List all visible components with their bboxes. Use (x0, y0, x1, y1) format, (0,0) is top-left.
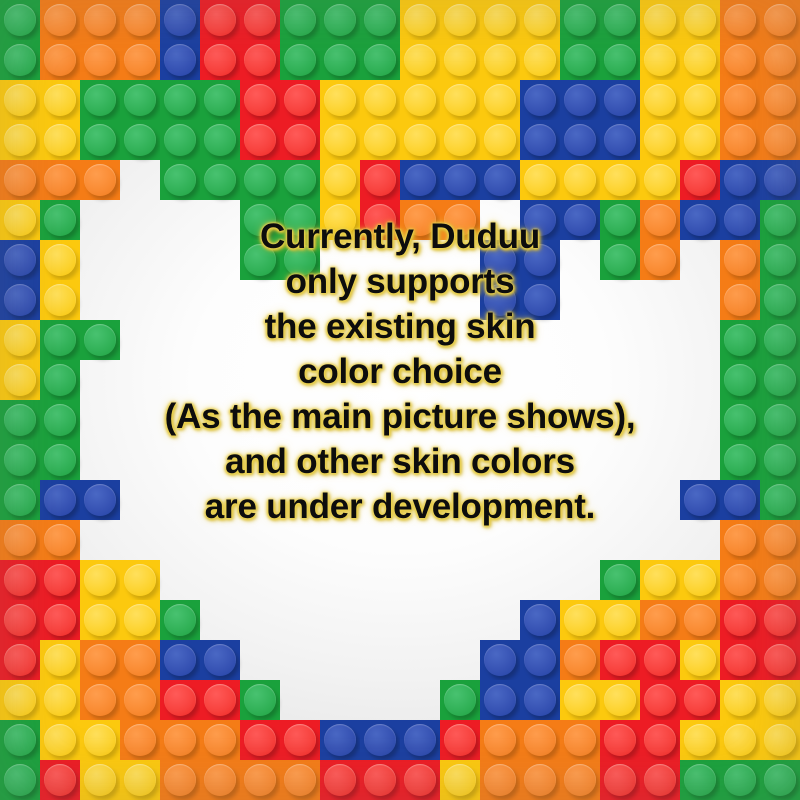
lego-stud-yellow (680, 80, 720, 120)
lego-stud-yellow (40, 280, 80, 320)
lego-stud-red (40, 760, 80, 800)
stud-icon (44, 204, 76, 236)
lego-stud-green (760, 440, 800, 480)
lego-stud-yellow (0, 200, 40, 240)
stud-icon (644, 124, 676, 156)
lego-stud-red (640, 760, 680, 800)
stud-icon (724, 44, 756, 76)
lego-stud-yellow (680, 640, 720, 680)
lego-stud-green (760, 760, 800, 800)
lego-stud-red (280, 80, 320, 120)
stud-icon (124, 644, 156, 676)
stud-icon (684, 564, 716, 596)
stud-icon (324, 44, 356, 76)
lego-stud-yellow (320, 80, 360, 120)
lego-stud-green (160, 600, 200, 640)
lego-stud-red (360, 200, 400, 240)
lego-stud-orange (760, 560, 800, 600)
lego-stud-orange (760, 520, 800, 560)
lego-stud-red (280, 720, 320, 760)
lego-stud-blue (720, 480, 760, 520)
stud-icon (484, 44, 516, 76)
stud-icon (484, 84, 516, 116)
stud-icon (404, 724, 436, 756)
lego-stud-red (240, 40, 280, 80)
lego-stud-orange (440, 200, 480, 240)
lego-stud-orange (720, 560, 760, 600)
stud-icon (404, 764, 436, 796)
stud-icon (124, 604, 156, 636)
stud-icon (524, 244, 556, 276)
lego-stud-green (200, 120, 240, 160)
lego-stud-yellow (560, 680, 600, 720)
lego-stud-yellow (760, 680, 800, 720)
stud-icon (164, 84, 196, 116)
stud-icon (364, 764, 396, 796)
lego-stud-blue (160, 0, 200, 40)
stud-icon (84, 84, 116, 116)
lego-stud-orange (760, 0, 800, 40)
stud-icon (724, 444, 756, 476)
lego-stud-green (600, 40, 640, 80)
stud-icon (564, 124, 596, 156)
lego-stud-blue (560, 200, 600, 240)
stud-icon (644, 564, 676, 596)
stud-icon (644, 164, 676, 196)
lego-stud-green (360, 40, 400, 80)
stud-icon (564, 644, 596, 676)
lego-stud-green (240, 680, 280, 720)
lego-stud-green (120, 120, 160, 160)
lego-stud-yellow (680, 720, 720, 760)
lego-stud-red (600, 760, 640, 800)
lego-stud-orange (40, 520, 80, 560)
lego-stud-yellow (360, 80, 400, 120)
lego-stud-orange (720, 240, 760, 280)
stud-icon (444, 4, 476, 36)
stud-icon (484, 4, 516, 36)
stud-icon (724, 364, 756, 396)
lego-stud-green (760, 400, 800, 440)
lego-stud-yellow (400, 0, 440, 40)
lego-stud-green (600, 200, 640, 240)
stud-icon (164, 4, 196, 36)
stud-icon (84, 44, 116, 76)
lego-stud-blue (520, 200, 560, 240)
stud-icon (644, 684, 676, 716)
stud-icon (724, 644, 756, 676)
lego-stud-green (0, 760, 40, 800)
stud-icon (364, 164, 396, 196)
lego-stud-green (0, 400, 40, 440)
lego-stud-yellow (600, 160, 640, 200)
lego-stud-green (560, 40, 600, 80)
lego-stud-yellow (640, 40, 680, 80)
stud-icon (684, 204, 716, 236)
stud-icon (4, 524, 36, 556)
lego-stud-orange (720, 40, 760, 80)
lego-stud-green (240, 240, 280, 280)
stud-icon (244, 84, 276, 116)
stud-icon (84, 324, 116, 356)
lego-stud-green (40, 200, 80, 240)
stud-icon (524, 644, 556, 676)
stud-icon (564, 84, 596, 116)
lego-stud-green (760, 280, 800, 320)
stud-icon (524, 284, 556, 316)
lego-stud-yellow (320, 120, 360, 160)
lego-stud-yellow (80, 720, 120, 760)
lego-stud-blue (480, 640, 520, 680)
stud-icon (244, 724, 276, 756)
lego-stud-blue (520, 680, 560, 720)
stud-icon (124, 764, 156, 796)
stud-icon (84, 724, 116, 756)
stud-icon (684, 644, 716, 676)
lego-stud-yellow (520, 160, 560, 200)
lego-stud-yellow (40, 720, 80, 760)
stud-icon (164, 724, 196, 756)
lego-stud-yellow (400, 80, 440, 120)
lego-stud-blue (160, 640, 200, 680)
stud-icon (564, 4, 596, 36)
stud-icon (404, 84, 436, 116)
stud-icon (244, 764, 276, 796)
stud-icon (724, 124, 756, 156)
stud-icon (604, 164, 636, 196)
lego-stud-orange (520, 720, 560, 760)
lego-stud-orange (720, 80, 760, 120)
lego-stud-green (760, 480, 800, 520)
lego-stud-blue (320, 720, 360, 760)
lego-stud-blue (0, 240, 40, 280)
lego-stud-red (640, 720, 680, 760)
stud-icon (484, 724, 516, 756)
lego-stud-green (280, 40, 320, 80)
lego-stud-orange (640, 600, 680, 640)
stud-icon (524, 44, 556, 76)
stud-icon (564, 684, 596, 716)
lego-stud-red (240, 720, 280, 760)
lego-stud-blue (600, 120, 640, 160)
lego-stud-green (440, 680, 480, 720)
lego-stud-blue (400, 720, 440, 760)
stud-icon (4, 164, 36, 196)
stud-icon (764, 244, 796, 276)
lego-stud-orange (680, 600, 720, 640)
lego-stud-green (0, 40, 40, 80)
lego-stud-yellow (40, 680, 80, 720)
lego-stud-orange (480, 760, 520, 800)
stud-icon (484, 164, 516, 196)
stud-icon (764, 324, 796, 356)
stud-icon (204, 724, 236, 756)
lego-stud-red (240, 120, 280, 160)
stud-icon (564, 724, 596, 756)
lego-stud-blue (0, 280, 40, 320)
stud-icon (44, 164, 76, 196)
stud-icon (684, 684, 716, 716)
lego-stud-red (320, 760, 360, 800)
lego-stud-red (720, 600, 760, 640)
stud-icon (764, 764, 796, 796)
stud-icon (4, 684, 36, 716)
stud-icon (724, 204, 756, 236)
stud-icon (284, 44, 316, 76)
stud-icon (284, 124, 316, 156)
lego-stud-green (200, 160, 240, 200)
stud-icon (684, 724, 716, 756)
stud-icon (444, 724, 476, 756)
lego-stud-yellow (80, 600, 120, 640)
stud-icon (764, 404, 796, 436)
lego-stud-orange (560, 640, 600, 680)
lego-stud-orange (760, 80, 800, 120)
lego-stud-yellow (480, 120, 520, 160)
stud-icon (484, 244, 516, 276)
lego-stud-yellow (0, 80, 40, 120)
stud-icon (404, 164, 436, 196)
stud-icon (44, 324, 76, 356)
lego-stud-green (760, 320, 800, 360)
lego-stud-blue (520, 80, 560, 120)
stud-icon (84, 484, 116, 516)
stud-icon (644, 644, 676, 676)
lego-stud-yellow (40, 120, 80, 160)
stud-icon (764, 4, 796, 36)
lego-stud-red (40, 560, 80, 600)
lego-stud-yellow (0, 680, 40, 720)
stud-icon (764, 724, 796, 756)
lego-brick-frame (0, 0, 800, 800)
stud-icon (124, 84, 156, 116)
stud-icon (524, 164, 556, 196)
lego-stud-yellow (720, 680, 760, 720)
stud-icon (44, 764, 76, 796)
lego-stud-red (240, 0, 280, 40)
stud-icon (124, 724, 156, 756)
lego-stud-yellow (560, 160, 600, 200)
stud-icon (44, 484, 76, 516)
lego-stud-orange (160, 760, 200, 800)
stud-icon (644, 84, 676, 116)
lego-stud-yellow (120, 760, 160, 800)
lego-stud-yellow (360, 120, 400, 160)
lego-stud-blue (520, 600, 560, 640)
stud-icon (684, 84, 716, 116)
lego-stud-red (680, 680, 720, 720)
lego-stud-yellow (440, 80, 480, 120)
lego-stud-red (680, 160, 720, 200)
lego-stud-green (0, 720, 40, 760)
lego-stud-green (280, 200, 320, 240)
stud-icon (604, 204, 636, 236)
stud-icon (764, 284, 796, 316)
lego-stud-orange (640, 240, 680, 280)
stud-icon (604, 564, 636, 596)
stud-icon (404, 44, 436, 76)
lego-stud-red (600, 640, 640, 680)
lego-stud-green (720, 320, 760, 360)
lego-stud-yellow (640, 80, 680, 120)
stud-icon (244, 244, 276, 276)
stud-icon (764, 564, 796, 596)
lego-stud-green (0, 480, 40, 520)
lego-stud-green (40, 360, 80, 400)
lego-stud-blue (720, 200, 760, 240)
lego-stud-red (760, 640, 800, 680)
stud-icon (44, 4, 76, 36)
lego-stud-green (80, 120, 120, 160)
lego-stud-green (80, 320, 120, 360)
stud-icon (564, 604, 596, 636)
lego-stud-red (240, 80, 280, 120)
stud-icon (724, 244, 756, 276)
lego-stud-green (40, 440, 80, 480)
lego-stud-green (760, 200, 800, 240)
lego-stud-yellow (680, 120, 720, 160)
stud-icon (764, 124, 796, 156)
stud-icon (604, 764, 636, 796)
lego-stud-yellow (480, 40, 520, 80)
lego-stud-blue (560, 120, 600, 160)
lego-stud-red (40, 600, 80, 640)
stud-icon (284, 84, 316, 116)
lego-stud-yellow (640, 0, 680, 40)
lego-stud-blue (520, 120, 560, 160)
lego-stud-orange (80, 160, 120, 200)
lego-stud-orange (520, 760, 560, 800)
stud-icon (724, 484, 756, 516)
stud-icon (164, 764, 196, 796)
lego-stud-green (560, 0, 600, 40)
stud-icon (84, 564, 116, 596)
lego-stud-green (720, 360, 760, 400)
stud-icon (644, 4, 676, 36)
stud-icon (404, 4, 436, 36)
stud-icon (44, 644, 76, 676)
stud-icon (44, 124, 76, 156)
lego-stud-red (760, 600, 800, 640)
lego-stud-green (160, 120, 200, 160)
stud-icon (684, 484, 716, 516)
lego-stud-blue (480, 160, 520, 200)
lego-stud-green (720, 440, 760, 480)
stud-icon (764, 444, 796, 476)
stud-icon (4, 364, 36, 396)
stud-icon (364, 204, 396, 236)
stud-icon (644, 44, 676, 76)
stud-icon (324, 164, 356, 196)
lego-stud-yellow (480, 80, 520, 120)
stud-icon (724, 4, 756, 36)
stud-icon (324, 204, 356, 236)
stud-icon (564, 204, 596, 236)
lego-stud-orange (120, 680, 160, 720)
lego-stud-green (600, 240, 640, 280)
stud-icon (764, 684, 796, 716)
stud-icon (4, 124, 36, 156)
stud-icon (124, 44, 156, 76)
lego-stud-yellow (680, 0, 720, 40)
stud-icon (604, 84, 636, 116)
stud-icon (764, 484, 796, 516)
lego-stud-green (0, 0, 40, 40)
lego-stud-orange (40, 40, 80, 80)
stud-icon (84, 644, 116, 676)
lego-stud-red (640, 640, 680, 680)
stud-icon (524, 204, 556, 236)
stud-icon (84, 164, 116, 196)
lego-stud-red (280, 120, 320, 160)
lego-stud-orange (760, 120, 800, 160)
stud-icon (604, 604, 636, 636)
lego-stud-blue (520, 640, 560, 680)
lego-stud-yellow (680, 40, 720, 80)
stud-icon (724, 284, 756, 316)
stud-icon (324, 724, 356, 756)
stud-icon (4, 564, 36, 596)
stud-icon (44, 84, 76, 116)
lego-stud-yellow (80, 760, 120, 800)
lego-stud-orange (480, 720, 520, 760)
lego-stud-orange (720, 120, 760, 160)
lego-stud-orange (720, 280, 760, 320)
lego-stud-blue (760, 160, 800, 200)
lego-stud-orange (120, 720, 160, 760)
stud-icon (4, 84, 36, 116)
lego-stud-yellow (80, 560, 120, 600)
stud-icon (524, 604, 556, 636)
stud-icon (124, 564, 156, 596)
lego-stud-orange (120, 40, 160, 80)
stud-icon (524, 84, 556, 116)
lego-stud-red (360, 760, 400, 800)
stud-icon (84, 124, 116, 156)
stud-icon (564, 44, 596, 76)
stud-icon (44, 364, 76, 396)
stud-icon (124, 684, 156, 716)
stud-icon (764, 44, 796, 76)
stud-icon (484, 284, 516, 316)
lego-stud-green (360, 0, 400, 40)
stud-icon (604, 244, 636, 276)
lego-stud-yellow (760, 720, 800, 760)
lego-stud-blue (680, 480, 720, 520)
lego-stud-blue (160, 40, 200, 80)
stud-icon (124, 124, 156, 156)
stud-icon (644, 724, 676, 756)
lego-stud-yellow (40, 240, 80, 280)
lego-stud-green (720, 760, 760, 800)
stud-icon (284, 4, 316, 36)
stud-icon (524, 684, 556, 716)
stud-icon (684, 164, 716, 196)
stud-icon (764, 164, 796, 196)
lego-stud-yellow (400, 40, 440, 80)
stud-icon (764, 604, 796, 636)
stud-icon (44, 604, 76, 636)
stud-icon (244, 684, 276, 716)
stud-icon (604, 4, 636, 36)
lego-stud-orange (0, 520, 40, 560)
lego-stud-blue (40, 480, 80, 520)
stud-icon (724, 324, 756, 356)
lego-stud-blue (720, 160, 760, 200)
stud-icon (244, 124, 276, 156)
stud-icon (724, 684, 756, 716)
lego-stud-orange (80, 40, 120, 80)
